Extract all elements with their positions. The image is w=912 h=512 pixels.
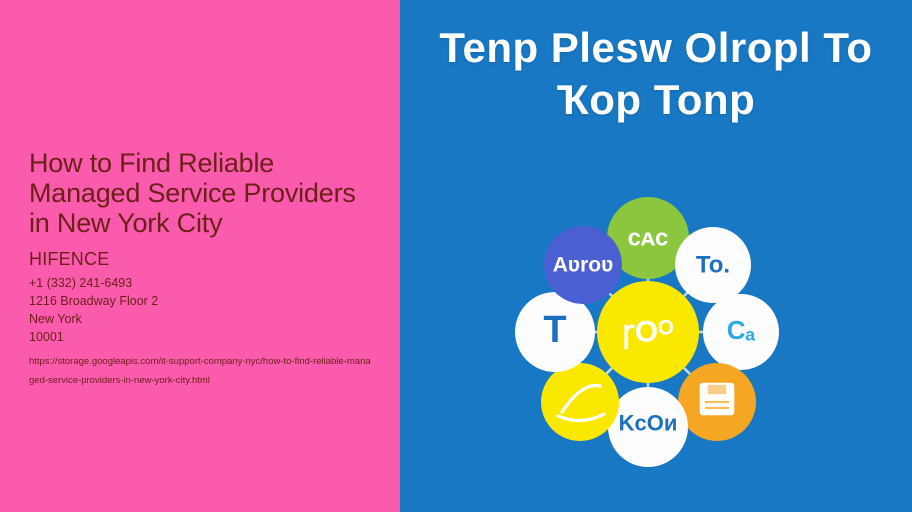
- hero-heading-line-1: Tenp Plesw Olropl To: [400, 22, 912, 74]
- node-right-white[interactable]: Cₐ: [703, 294, 779, 370]
- document-icon: [701, 384, 733, 414]
- hub-and-spoke-diagram: ᴄᴀᴄ To. Cₐ: [500, 170, 805, 495]
- node-bottom-white[interactable]: KᴄOᴎ: [608, 387, 688, 467]
- contact-phone: +1 (332) 241-6493: [29, 274, 377, 292]
- contact-street: 1216 Broadway Floor 2: [29, 292, 377, 310]
- node-topright-white[interactable]: To.: [675, 227, 751, 303]
- node-left-label: T: [543, 309, 566, 351]
- page-title: How to Find Reliable Managed Service Pro…: [29, 148, 377, 238]
- hero-heading: Tenp Plesw Olropl To Ҡop Tonp: [400, 22, 912, 126]
- left-info-panel: How to Find Reliable Managed Service Pro…: [0, 0, 400, 512]
- hub-label: ꞅOᴼ: [622, 316, 673, 350]
- contact-zip: 10001: [29, 328, 377, 346]
- node-bottomleft-circle[interactable]: [541, 363, 619, 441]
- node-bottomright-orange[interactable]: [678, 363, 756, 441]
- node-topright-label: To.: [696, 252, 730, 279]
- node-right-label: Cₐ: [727, 315, 756, 345]
- node-bottomleft-yellow[interactable]: [541, 363, 619, 441]
- node-bottom-label: KᴄOᴎ: [619, 411, 678, 436]
- node-topleft-label: Aʋroʋ: [553, 254, 614, 277]
- hero-heading-line-2: Ҡop Tonp: [400, 74, 912, 126]
- diagram-hub[interactable]: ꞅOᴼ: [597, 281, 699, 383]
- contact-city: New York: [29, 310, 377, 328]
- left-content-block: How to Find Reliable Managed Service Pro…: [29, 148, 377, 390]
- poster-canvas: How to Find Reliable Managed Service Pro…: [0, 0, 912, 512]
- brand-name: HIFENCE: [29, 248, 377, 270]
- node-topleft-purple[interactable]: Aʋroʋ: [544, 226, 622, 304]
- source-url: https://storage.googleapis.com/it-suppor…: [29, 352, 374, 390]
- right-graphic-panel: Tenp Plesw Olropl To Ҡop Tonp: [400, 0, 912, 512]
- node-top-green-label: ᴄᴀᴄ: [628, 225, 669, 252]
